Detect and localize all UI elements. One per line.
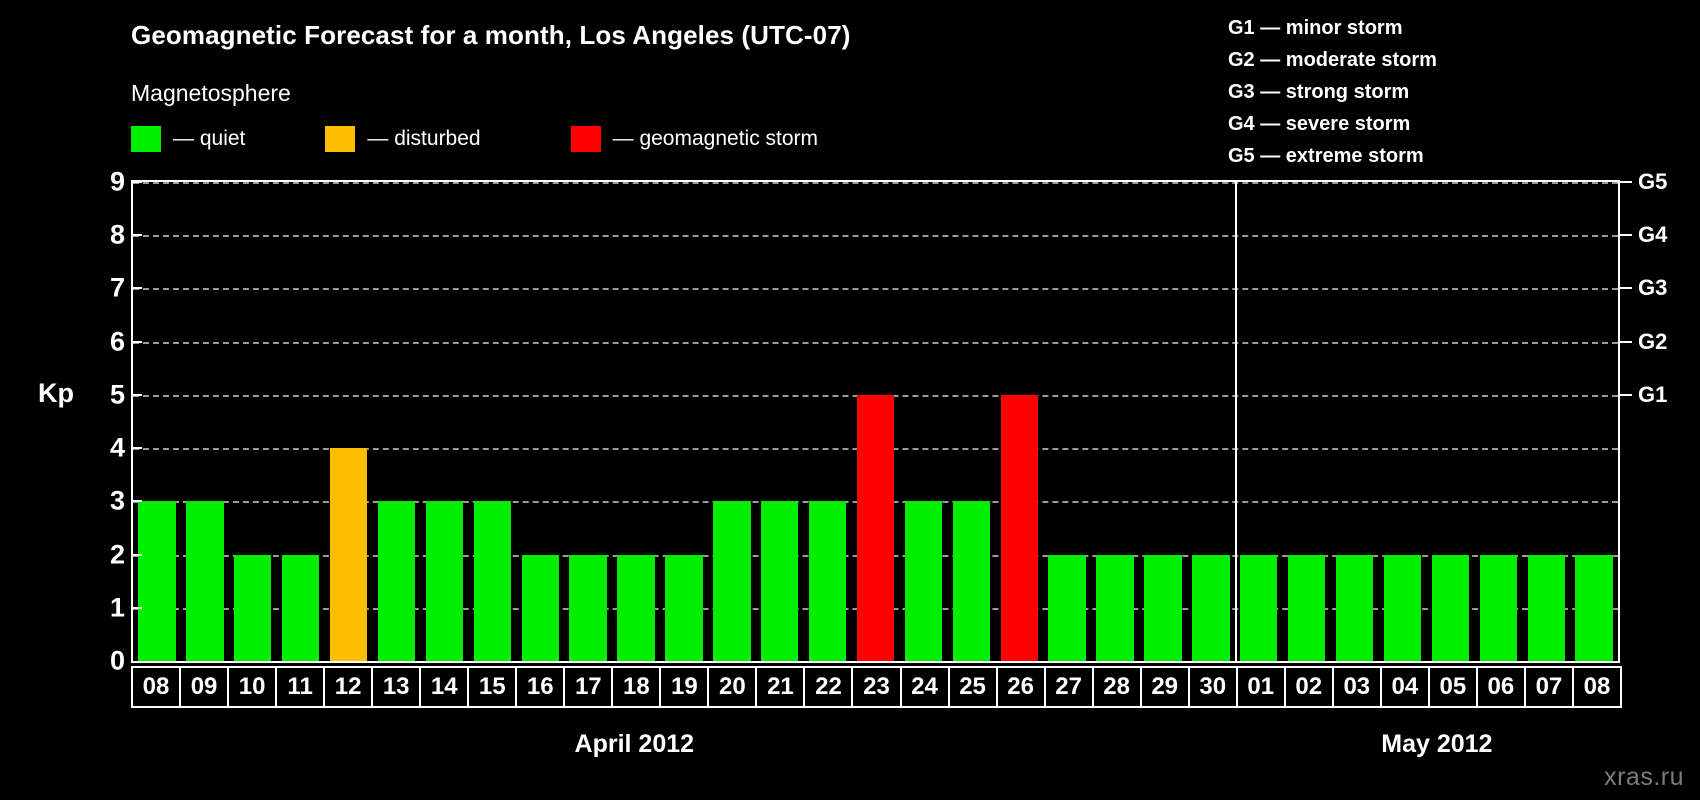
bar[interactable] — [1432, 555, 1469, 661]
bar-cell[interactable] — [1187, 182, 1235, 661]
bar-cell[interactable] — [516, 182, 564, 661]
legend-swatch-icon — [571, 126, 601, 152]
bar[interactable] — [330, 448, 367, 661]
month-label: April 2012 — [575, 730, 695, 759]
bar[interactable] — [426, 501, 463, 661]
bar-cell[interactable] — [181, 182, 229, 661]
y-tick-label: 3 — [110, 486, 125, 517]
bar[interactable] — [282, 555, 319, 661]
g-tick-label: G5 — [1638, 169, 1667, 195]
y-axis-title: Kp — [38, 378, 74, 409]
day-label[interactable]: 08 — [131, 666, 181, 708]
day-label[interactable]: 09 — [179, 666, 229, 708]
bar[interactable] — [617, 555, 654, 661]
g-legend-item: G1 — minor storm — [1228, 12, 1437, 44]
bar-cell[interactable] — [1235, 182, 1283, 661]
bar[interactable] — [1336, 555, 1373, 661]
bar[interactable] — [234, 555, 271, 661]
bar[interactable] — [665, 555, 702, 661]
bar[interactable] — [1192, 555, 1229, 661]
y-tick-label: 6 — [110, 326, 125, 357]
y-tick-label: 8 — [110, 220, 125, 251]
bar-cell[interactable] — [1570, 182, 1618, 661]
bar-cell[interactable] — [900, 182, 948, 661]
color-legend: — quiet— disturbed— geomagnetic storm — [131, 126, 818, 152]
day-label[interactable]: 08 — [1572, 666, 1622, 708]
y-tick-mark — [131, 394, 142, 396]
plot-inner — [133, 182, 1618, 661]
bar[interactable] — [905, 501, 942, 661]
bar[interactable] — [474, 501, 511, 661]
bar-cell[interactable] — [1522, 182, 1570, 661]
day-label[interactable]: 23 — [851, 666, 901, 708]
y-tick-mark — [131, 500, 142, 502]
bar-cell[interactable] — [1474, 182, 1522, 661]
day-label[interactable]: 02 — [1284, 666, 1334, 708]
bar-cell[interactable] — [947, 182, 995, 661]
g-tick-label: G2 — [1638, 329, 1667, 355]
day-label[interactable]: 13 — [371, 666, 421, 708]
y-tick-label: 2 — [110, 539, 125, 570]
bar[interactable] — [809, 501, 846, 661]
day-label[interactable]: 27 — [1044, 666, 1094, 708]
day-label[interactable]: 21 — [755, 666, 805, 708]
watermark: xras.ru — [1604, 763, 1684, 792]
bar[interactable] — [186, 501, 223, 661]
day-label[interactable]: 14 — [419, 666, 469, 708]
day-label[interactable]: 28 — [1092, 666, 1142, 708]
bar-cell[interactable] — [229, 182, 277, 661]
legend-label: — geomagnetic storm — [613, 127, 818, 151]
y-tick-mark — [131, 234, 142, 236]
legend-label: — quiet — [173, 127, 245, 151]
plot-area — [131, 180, 1620, 663]
x-axis-day-labels: 0809101112131415161718192021222324252627… — [131, 666, 1620, 708]
legend-swatch-icon — [325, 126, 355, 152]
day-label[interactable]: 07 — [1524, 666, 1574, 708]
bar-cell[interactable] — [612, 182, 660, 661]
g-tick-mark — [1620, 234, 1632, 236]
bar[interactable] — [1001, 395, 1038, 661]
bar-cell[interactable] — [1426, 182, 1474, 661]
bar-cell[interactable] — [1091, 182, 1139, 661]
bar[interactable] — [569, 555, 606, 661]
magnetosphere-label: Magnetosphere — [131, 80, 291, 107]
bar-cell[interactable] — [1139, 182, 1187, 661]
y-tick-mark — [131, 447, 142, 449]
bar-cell[interactable] — [277, 182, 325, 661]
bar-cell[interactable] — [756, 182, 804, 661]
legend-entry: — quiet — [131, 126, 245, 152]
bar[interactable] — [1384, 555, 1421, 661]
bar[interactable] — [1480, 555, 1517, 661]
y-axis-labels: 0123456789 — [80, 180, 125, 663]
day-label[interactable]: 03 — [1332, 666, 1382, 708]
bar-cell[interactable] — [564, 182, 612, 661]
y-tick-label: 9 — [110, 167, 125, 198]
y-tick-label: 1 — [110, 592, 125, 623]
day-label[interactable]: 05 — [1428, 666, 1478, 708]
day-label[interactable]: 26 — [996, 666, 1046, 708]
bar-cell[interactable] — [660, 182, 708, 661]
bar-cell[interactable] — [804, 182, 852, 661]
bar[interactable] — [713, 501, 750, 661]
y-tick-mark — [131, 607, 142, 609]
day-label[interactable]: 25 — [948, 666, 998, 708]
g-axis-labels: G1G2G3G4G5 — [1638, 180, 1698, 663]
g-tick-label: G4 — [1638, 222, 1667, 248]
day-label[interactable]: 11 — [275, 666, 325, 708]
bar[interactable] — [522, 555, 559, 661]
day-label[interactable]: 12 — [323, 666, 373, 708]
y-tick-label: 5 — [110, 379, 125, 410]
day-label[interactable]: 20 — [707, 666, 757, 708]
g-tick-mark — [1620, 181, 1632, 183]
day-label[interactable]: 16 — [515, 666, 565, 708]
legend-swatch-icon — [131, 126, 161, 152]
bar[interactable] — [857, 395, 894, 661]
month-divider — [1235, 182, 1237, 661]
bar[interactable] — [1288, 555, 1325, 661]
month-label: May 2012 — [1381, 730, 1492, 759]
bar[interactable] — [378, 501, 415, 661]
bar[interactable] — [138, 501, 175, 661]
g-legend-item: G2 — moderate storm — [1228, 44, 1437, 76]
day-label[interactable]: 01 — [1236, 666, 1286, 708]
legend-label: — disturbed — [367, 127, 480, 151]
bar-cell[interactable] — [325, 182, 373, 661]
bar-series — [133, 182, 1618, 661]
bar[interactable] — [1048, 555, 1085, 661]
day-label[interactable]: 15 — [467, 666, 517, 708]
bar-cell[interactable] — [995, 182, 1043, 661]
bar[interactable] — [761, 501, 798, 661]
day-label[interactable]: 24 — [900, 666, 950, 708]
bar-cell[interactable] — [1331, 182, 1379, 661]
g-tick-label: G1 — [1638, 382, 1667, 408]
g-legend-item: G3 — strong storm — [1228, 76, 1437, 108]
bar[interactable] — [1096, 555, 1133, 661]
bar-cell[interactable] — [708, 182, 756, 661]
page-title: Geomagnetic Forecast for a month, Los An… — [131, 20, 851, 51]
y-tick-mark — [131, 287, 142, 289]
bar-cell[interactable] — [852, 182, 900, 661]
g-legend-item: G4 — severe storm — [1228, 108, 1437, 140]
bar-cell[interactable] — [1283, 182, 1331, 661]
bar-cell[interactable] — [468, 182, 516, 661]
bar[interactable] — [1575, 555, 1612, 661]
day-label[interactable]: 18 — [611, 666, 661, 708]
day-label[interactable]: 06 — [1476, 666, 1526, 708]
legend-entry: — disturbed — [325, 126, 480, 152]
bar-cell[interactable] — [1043, 182, 1091, 661]
bar[interactable] — [1240, 555, 1277, 661]
g-tick-mark — [1620, 341, 1632, 343]
day-label[interactable]: 17 — [563, 666, 613, 708]
y-tick-mark — [131, 181, 142, 183]
day-label[interactable]: 22 — [803, 666, 853, 708]
bar[interactable] — [1528, 555, 1565, 661]
day-label[interactable]: 04 — [1380, 666, 1430, 708]
y-tick-mark — [131, 554, 142, 556]
y-tick-mark — [131, 341, 142, 343]
day-label[interactable]: 30 — [1188, 666, 1238, 708]
y-tick-label: 4 — [110, 433, 125, 464]
g-legend-item: G5 — extreme storm — [1228, 140, 1437, 172]
day-label[interactable]: 29 — [1140, 666, 1190, 708]
y-tick-label: 0 — [110, 646, 125, 677]
bar-cell[interactable] — [420, 182, 468, 661]
g-tick-mark — [1620, 287, 1632, 289]
g-tick-label: G3 — [1638, 275, 1667, 301]
bar[interactable] — [953, 501, 990, 661]
legend-entry: — geomagnetic storm — [571, 126, 818, 152]
bar-cell[interactable] — [1379, 182, 1427, 661]
bar-cell[interactable] — [133, 182, 181, 661]
bar-cell[interactable] — [373, 182, 421, 661]
bar[interactable] — [1144, 555, 1181, 661]
day-label[interactable]: 19 — [659, 666, 709, 708]
day-label[interactable]: 10 — [227, 666, 277, 708]
y-tick-label: 7 — [110, 273, 125, 304]
g-scale-legend: G1 — minor stormG2 — moderate stormG3 — … — [1228, 12, 1437, 172]
g-tick-mark — [1620, 394, 1632, 396]
